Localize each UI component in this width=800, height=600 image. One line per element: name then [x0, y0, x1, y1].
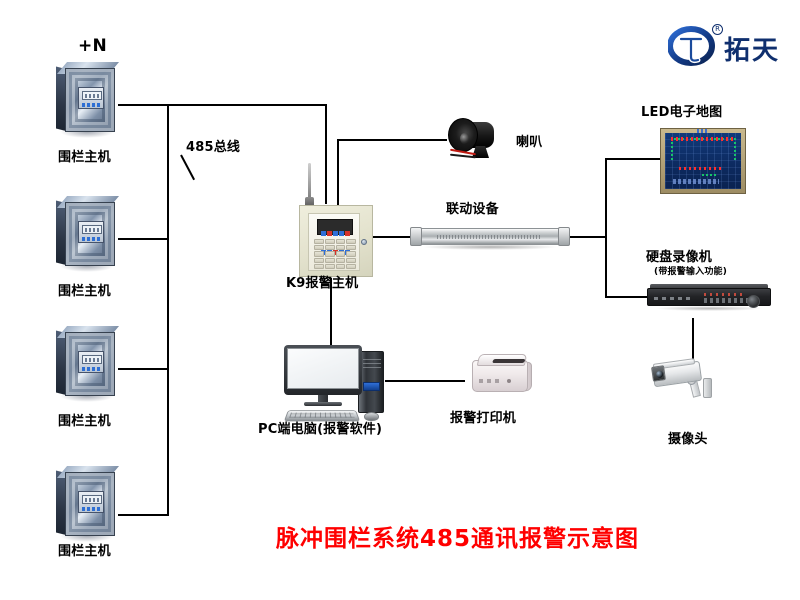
desktop-computer-label: PC端电脑(报警软件)	[258, 418, 382, 437]
wire-panel-to-speaker	[337, 139, 447, 141]
dvr-status-leds	[704, 293, 746, 296]
fence-host-1-label: 围栏主机	[58, 146, 111, 165]
dvr-buttons[interactable]	[704, 298, 748, 303]
linkage-device[interactable]	[410, 224, 570, 250]
wire-right-riser	[605, 158, 607, 298]
pc-tower-display	[363, 382, 380, 391]
led-map-alarm-dots-top	[671, 137, 736, 141]
led-map-label: LED电子地图	[641, 101, 722, 120]
fence-host-face	[65, 472, 115, 536]
pc-monitor	[284, 345, 362, 395]
wire-bus-to-panel-drop	[325, 104, 327, 204]
fence-host-2[interactable]	[56, 196, 118, 274]
horn-speaker-label: 喇叭	[516, 131, 542, 150]
wire-linkage-to-riser	[568, 236, 607, 238]
dvr-jog-dial[interactable]	[747, 295, 760, 308]
printer-top-cover	[477, 354, 528, 366]
fence-host-panel	[78, 491, 104, 513]
fence-host-4-label: 围栏主机	[58, 540, 111, 559]
diagram-title: 脉冲围栏系统485通讯报警示意图	[276, 519, 639, 553]
led-map-frame	[660, 128, 746, 194]
desktop-computer[interactable]	[284, 345, 394, 425]
wire-fence-host-1-stub	[118, 104, 169, 106]
registered-mark: R	[712, 24, 723, 35]
led-map-alarm-dots-mid	[679, 167, 723, 170]
expansion-label: +N	[78, 36, 107, 56]
tuotian-circle-t-logo-icon	[668, 26, 716, 66]
fence-host-panel	[78, 87, 104, 109]
diagram-canvas: R 拓天 +N 围栏主机	[0, 0, 800, 600]
alarm-printer[interactable]	[472, 352, 534, 396]
alarm-control-panel[interactable]	[299, 205, 373, 277]
dvr-sublabel: (带报警输入功能)	[654, 264, 727, 277]
fence-host-3-label: 围栏主机	[58, 410, 111, 429]
led-map-board[interactable]	[660, 128, 746, 194]
printer-led	[507, 379, 511, 383]
dvr-label: 硬盘录像机	[646, 246, 712, 265]
cctv-camera[interactable]	[651, 358, 727, 408]
panel-keypad[interactable]	[314, 239, 356, 269]
fence-host-lcd	[82, 91, 102, 100]
linkage-device-label: 联动设备	[446, 198, 499, 217]
led-map-title-strip	[697, 129, 709, 133]
printer-paper-slot	[492, 359, 526, 363]
fence-host-4[interactable]	[56, 466, 118, 544]
alarm-printer-label: 报警打印机	[450, 407, 516, 426]
wire-fence-host-4-stub	[118, 514, 169, 516]
wire-fence-host-2-stub	[118, 238, 169, 240]
led-map-screen	[665, 133, 741, 189]
dvr-shadow	[655, 306, 763, 311]
panel-lock-icon	[361, 239, 367, 245]
fence-host-face	[65, 202, 115, 266]
pc-monitor-screen	[287, 348, 359, 389]
speaker-dome	[460, 133, 469, 144]
alarm-control-panel-label: K9报警主机	[286, 272, 358, 291]
fence-host-lcd	[82, 225, 102, 234]
bus-label: 485总线	[186, 136, 240, 155]
wire-riser-to-dvr	[605, 296, 647, 298]
brand-name: 拓天	[724, 30, 780, 67]
fence-host-panel	[78, 221, 104, 243]
camera-lens-icon	[651, 365, 666, 382]
fence-host-lcd	[82, 495, 102, 504]
fence-host-lcd	[82, 355, 102, 364]
linkage-device-ear-right	[558, 227, 570, 246]
fence-host-buttons	[82, 237, 102, 241]
wire-bus-trunk	[167, 104, 169, 516]
brand-logo: R 拓天	[668, 24, 800, 70]
fence-host-3[interactable]	[56, 326, 118, 404]
wire-panel-to-speaker-riser	[337, 139, 339, 205]
fence-host-buttons	[82, 103, 102, 107]
panel-display	[317, 219, 353, 235]
horn-speaker[interactable]	[448, 116, 510, 162]
panel-body	[299, 205, 373, 277]
fence-host-face	[65, 68, 115, 132]
bus-label-leader	[180, 155, 195, 181]
wire-riser-to-led-map	[605, 158, 661, 160]
linkage-device-body	[410, 228, 570, 245]
linkage-device-ear-left	[410, 227, 422, 246]
pc-monitor-base	[304, 402, 342, 406]
fence-host-2-label: 围栏主机	[58, 280, 111, 299]
cctv-camera-label: 摄像头	[668, 428, 708, 447]
camera-wall-mount	[703, 378, 712, 398]
led-map-caption-strip	[673, 179, 719, 184]
fence-host-panel	[78, 351, 104, 373]
panel-plate	[308, 213, 360, 271]
wire-bus-to-panel-top	[167, 104, 327, 106]
fence-host-buttons	[82, 367, 102, 371]
fence-host-1[interactable]	[56, 62, 118, 140]
wire-dvr-to-camera	[692, 318, 694, 360]
fence-host-buttons	[82, 507, 102, 511]
dvr-device[interactable]	[647, 284, 771, 310]
fence-host-face	[65, 332, 115, 396]
printer-buttons[interactable]	[479, 379, 501, 383]
speaker-cone	[448, 118, 478, 152]
wire-fence-host-3-stub	[118, 368, 169, 370]
dvr-front-panel	[647, 288, 771, 306]
wire-pc-to-printer	[385, 380, 465, 382]
